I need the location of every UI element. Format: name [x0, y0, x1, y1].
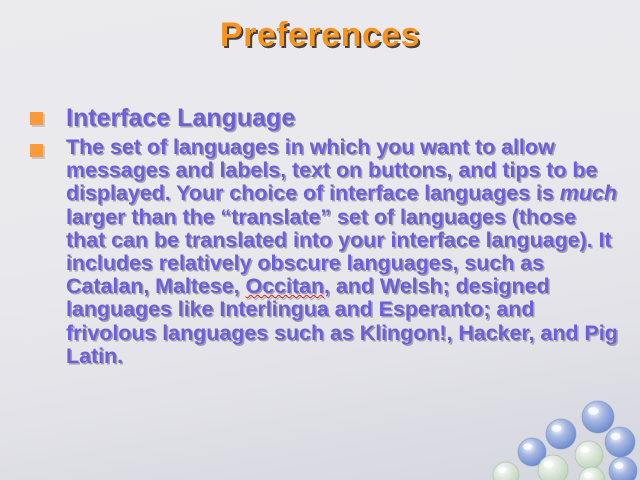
list-item: The set of languages in which you want t… [30, 136, 620, 368]
paragraph-segment-0: The set of languages in which you want t… [66, 135, 597, 205]
bubble-highlight [552, 425, 562, 432]
bubble-shape [609, 457, 637, 480]
page-title: Preferences [0, 16, 640, 55]
bubble-highlight [544, 461, 554, 468]
bubble-shape [582, 401, 614, 433]
list-item: Interface Language [30, 103, 620, 134]
bubble-shape [579, 467, 605, 480]
bubble-shape [493, 462, 519, 480]
bullet-text-paragraph: The set of languages in which you want t… [66, 136, 620, 368]
bullet-square-icon [30, 112, 43, 125]
bubble-shape [518, 438, 546, 466]
bubble-shape [538, 455, 568, 480]
bubble-highlight [498, 467, 507, 473]
bubble-highlight [614, 462, 623, 469]
bubble-shape [546, 419, 576, 449]
bubble-highlight [611, 433, 621, 440]
spellcheck-underlined-word: Occitan [246, 274, 325, 298]
bubble-highlight [580, 446, 589, 453]
bubble-highlight [588, 407, 599, 415]
bubble-highlight [584, 472, 593, 478]
bubble-shape [575, 441, 603, 469]
bubble-shape [605, 427, 635, 457]
bubble-highlight [523, 443, 532, 450]
bullet-text-heading: Interface Language [66, 103, 620, 134]
emphasis-text: much [560, 181, 617, 205]
slide-body: Interface Language The set of languages … [30, 103, 620, 368]
bullet-square-icon [30, 144, 43, 157]
slide-canvas: Preferences Interface Language The set o… [0, 0, 640, 480]
